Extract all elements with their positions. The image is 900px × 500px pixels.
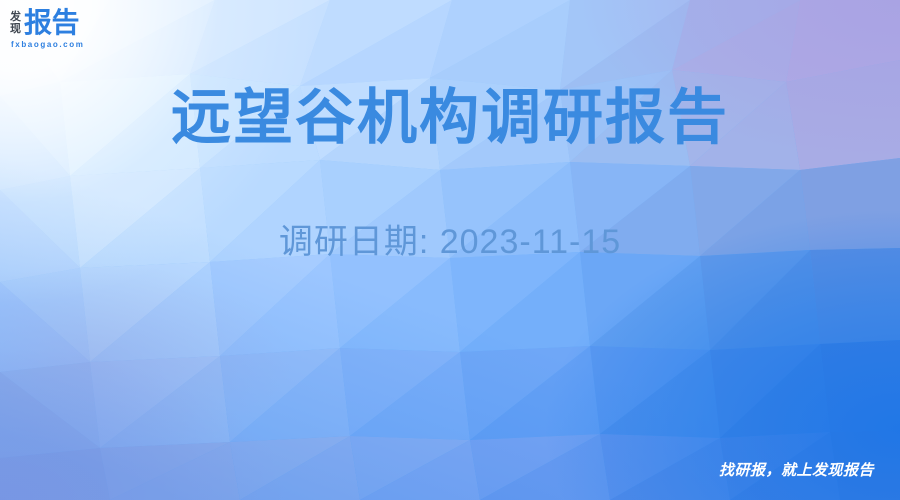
report-cover-slide: 发 现 报告 fxbaogao.com 远望谷机构调研报告 调研日期: 2023… — [0, 0, 900, 500]
page-title: 远望谷机构调研报告 — [0, 84, 900, 151]
logo-wordmark: 报告 — [24, 9, 79, 37]
logo-wordmark-row: 发 现 报告 — [10, 9, 79, 37]
footer-slogan: 找研报，就上发现报告 — [719, 459, 874, 480]
logo-mark-characters: 发 现 — [10, 11, 21, 36]
logo-mark-line-1: 发 — [10, 12, 21, 24]
logo-mark-line-2: 现 — [10, 24, 21, 36]
brand-logo[interactable]: 发 现 报告 fxbaogao.com — [10, 9, 84, 49]
cover-title-block: 远望谷机构调研报告 调研日期: 2023-11-15 — [0, 84, 900, 263]
logo-url: fxbaogao.com — [11, 40, 84, 49]
survey-date-subtitle: 调研日期: 2023-11-15 — [0, 151, 900, 263]
